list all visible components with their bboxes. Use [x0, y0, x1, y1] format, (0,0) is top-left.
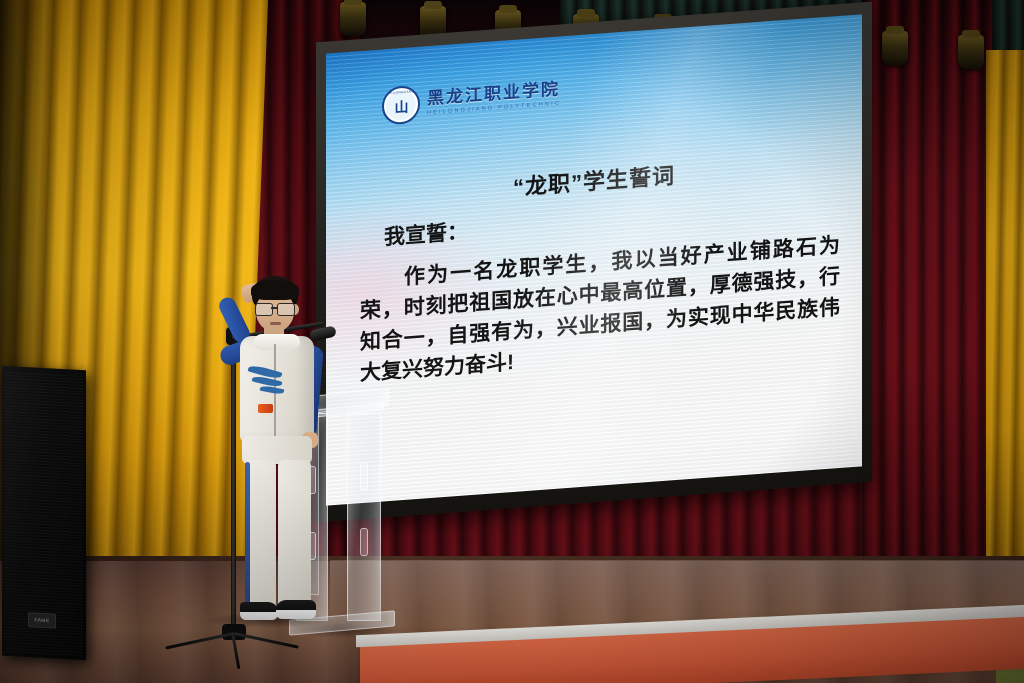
stage-light-icon — [340, 2, 366, 36]
school-crest-icon: HEILONGJIANG 山 — [382, 85, 420, 126]
wing-feather — [260, 385, 285, 396]
gold-curtain-right — [986, 50, 1024, 590]
lectern-right-panel — [347, 413, 381, 621]
stage-photo-scene: HEILONGJIANG 山 黑龙江职业学院 HEILONGJIANG POLY… — [0, 0, 1024, 683]
stage-light-icon — [958, 35, 984, 69]
right-red-curtain-panel — [862, 0, 992, 600]
lectern-slot — [360, 462, 368, 490]
slide-body-text: 作为一名龙职学生，我以当好产业铺路石为荣，时刻把祖国放在心中最高位置，厚德强技，… — [360, 230, 840, 390]
right-trouser-leg — [278, 460, 311, 608]
slide-body-line: 兴努力奋斗! — [402, 351, 514, 382]
left-sneaker — [240, 602, 278, 620]
glasses-bridge — [271, 307, 278, 309]
slide-lead-text: 我宣誓： — [384, 215, 468, 251]
hair-fringe — [251, 280, 299, 300]
lectern-slot — [360, 528, 368, 556]
institution-name-block: 黑龙江职业学院 HEILONGJIANG POLYTECHNIC — [427, 81, 561, 117]
wing-emblem-icon — [248, 362, 298, 402]
institution-logo: HEILONGJIANG 山 黑龙江职业学院 HEILONGJIANG POLY… — [382, 74, 561, 125]
right-sneaker — [276, 600, 316, 619]
crest-mark: 山 — [395, 100, 408, 115]
crest-ring-text: HEILONGJIANG — [384, 89, 418, 95]
presentation-slide: HEILONGJIANG 山 黑龙江职业学院 HEILONGJIANG POLY… — [326, 14, 862, 505]
student-speaker — [196, 270, 326, 635]
glasses-left-lens — [255, 303, 273, 316]
glasses-icon — [255, 303, 297, 314]
projection-screen: HEILONGJIANG 山 黑龙江职业学院 HEILONGJIANG POLY… — [316, 2, 872, 523]
speaker-brand-badge: FAME — [28, 612, 56, 628]
loudspeaker-cabinet: FAME — [2, 366, 86, 660]
jacket-collar — [254, 334, 300, 350]
screen-display-surface: HEILONGJIANG 山 黑龙江职业学院 HEILONGJIANG POLY… — [326, 14, 862, 505]
slide-title: “龙职”学生誓词 — [326, 144, 862, 215]
stage-light-icon — [882, 31, 908, 65]
trouser-side-stripe — [245, 462, 250, 604]
glasses-right-lens — [277, 303, 295, 316]
mouth — [270, 322, 281, 325]
uniform-badge — [258, 404, 273, 413]
paragraph-indent — [360, 284, 402, 287]
